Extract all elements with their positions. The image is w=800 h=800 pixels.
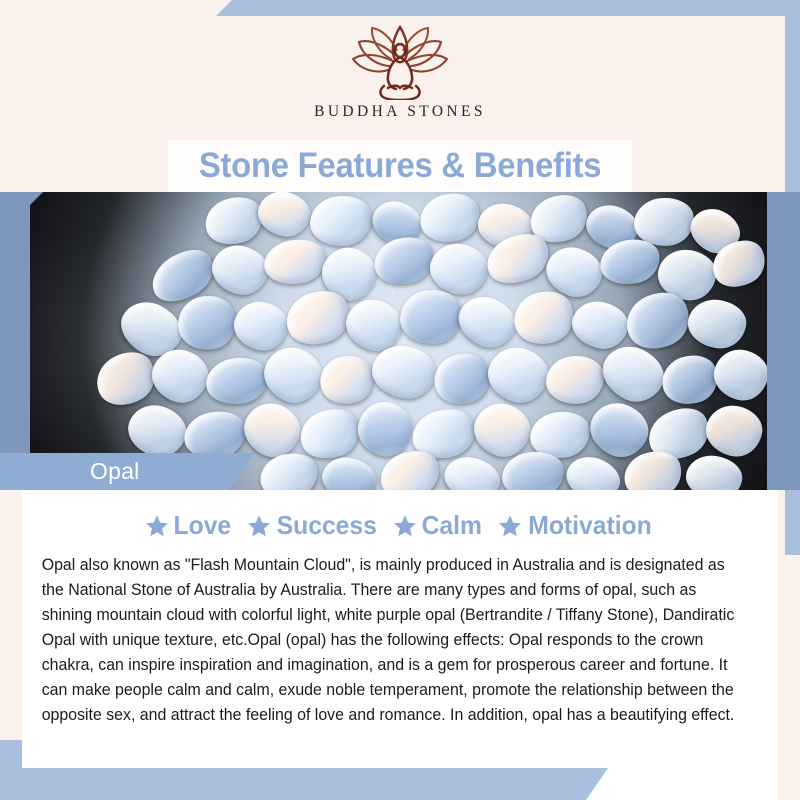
stone-photo: Opal [0, 192, 800, 490]
star-icon [145, 514, 169, 538]
bottom-accent-band [0, 768, 608, 800]
bottom-left-accent-band [0, 740, 22, 800]
brand-name: BUDDHA STONES [314, 103, 486, 121]
stone-cluster [0, 192, 800, 490]
star-icon [393, 514, 417, 538]
benefit-item-success: Success [247, 510, 380, 541]
benefits-list: Love Success Calm Motivation [32, 510, 768, 541]
benefit-label: Calm [422, 510, 482, 541]
stone-photo-image [0, 192, 800, 490]
content-panel: Love Success Calm Motivation Opal also k… [22, 490, 778, 800]
header: BUDDHA STONES [0, 0, 800, 192]
stone-name-banner: Opal [0, 453, 255, 490]
benefit-label: Motivation [528, 510, 652, 541]
benefit-item-calm: Calm [393, 510, 484, 541]
benefit-label: Love [174, 510, 232, 541]
benefit-item-love: Love [145, 510, 233, 541]
benefit-label: Success [276, 510, 376, 541]
photo-left-accent [0, 192, 30, 490]
photo-right-accent [767, 192, 800, 490]
lotus-meditation-icon [345, 22, 455, 100]
star-icon [498, 514, 522, 538]
stone-name-label: Opal [90, 458, 139, 485]
star-icon [247, 514, 271, 538]
brand-logo: BUDDHA STONES [0, 22, 800, 121]
stone-description: Opal also known as "Flash Mountain Cloud… [32, 553, 746, 728]
benefit-item-motivation: Motivation [498, 510, 655, 541]
